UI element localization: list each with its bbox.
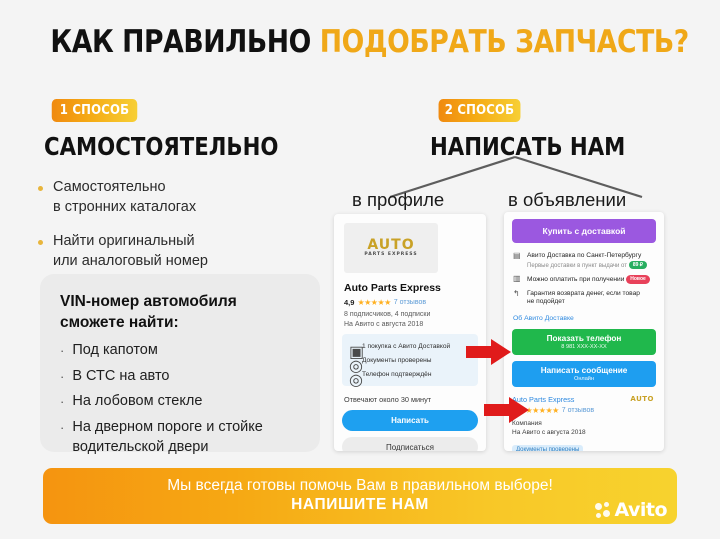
- benefit-text: Документы проверены: [362, 357, 432, 364]
- avito-dots-icon: [595, 502, 612, 519]
- list-item: ◎ Документы проверены: [347, 353, 473, 367]
- benefit-text: Телефон подтверждён: [362, 371, 431, 378]
- poster-canvas: КАК ПРАВИЛЬНО ПОДОБРАТЬ ЗАПЧАСТЬ? 1 СПОС…: [0, 0, 720, 539]
- logo-auto-text: AUTO: [367, 237, 414, 253]
- headline-black: КАК ПРАВИЛЬНО: [50, 24, 310, 60]
- show-phone-label: Показать телефон: [547, 334, 622, 343]
- check-circle-icon: ◎: [349, 370, 357, 378]
- cta-banner: Мы всегда готовы помочь Вам в правильном…: [43, 468, 677, 524]
- bullet-text: Самостоятельнов стронних каталогах: [53, 177, 196, 217]
- list-item: ↰ Гарантия возврата денег, если товарне …: [512, 288, 656, 310]
- reviews-link[interactable]: 7 отзывов: [394, 299, 426, 306]
- new-pill: Новое: [626, 275, 650, 284]
- benefits-panel: ▣ 1 покупка с Авито Доставкой ◎ Документ…: [342, 334, 478, 386]
- shop-logo: AUTO PARTS EXPRESS: [344, 223, 438, 273]
- bullet-dot-icon: [38, 186, 43, 191]
- about-delivery-link[interactable]: Об Авито Доставке: [513, 315, 656, 322]
- show-phone-button[interactable]: Показать телефон 8 981 XXX-XX-XX: [512, 329, 656, 355]
- avito-logo: Avito: [595, 499, 667, 521]
- documents-verified-badge: Документы проверены: [512, 445, 583, 451]
- cta-line-two: НАПИШИТЕ НАМ: [291, 495, 429, 516]
- vin-item-text: На лобовом стекле: [72, 392, 202, 412]
- list-item: · На лобовом стекле: [60, 392, 302, 412]
- return-icon: ↰: [513, 290, 522, 307]
- bullet-icon: ·: [60, 367, 64, 387]
- method-one-bullet-list: Самостоятельнов стронних каталогах Найти…: [38, 177, 318, 285]
- benefit-text: 1 покупка с Авито Доставкой: [362, 343, 450, 350]
- shop-name: Auto Parts Express: [344, 282, 478, 294]
- masked-phone-number: 8 981 XXX-XX-XX: [561, 344, 606, 350]
- write-message-button[interactable]: Написать сообщение Онлайн: [512, 361, 656, 387]
- bullet-icon: ·: [60, 392, 64, 412]
- seller-rating-row: 4,9 ★★★★★ 7 отзывов: [512, 406, 656, 415]
- star-icon: ★★★★★: [525, 406, 558, 415]
- vin-info-card: VIN-номер автомобилясможете найти: · Под…: [40, 274, 320, 452]
- list-item: Найти оригинальныйили аналоговый номер: [38, 231, 318, 271]
- bullet-icon: ·: [60, 418, 64, 457]
- headline-amber: ПОДОБРАТЬ ЗАПЧАСТЬ?: [320, 24, 689, 60]
- check-circle-icon: ◎: [349, 356, 357, 364]
- rating-value: 4,9: [344, 298, 354, 307]
- bullet-dot-icon: [38, 240, 43, 245]
- answer-time-note: Отвечают около 30 минут: [344, 395, 478, 404]
- delivery-text: Гарантия возврата денег, если товарне по…: [527, 290, 640, 307]
- red-arrow-icon: [466, 338, 512, 366]
- seller-type: Компания: [512, 419, 656, 428]
- subscribe-button[interactable]: Подписаться: [342, 437, 478, 451]
- seller-since: На Авито с августа 2018: [512, 428, 656, 437]
- method-one-badge: 1 СПОСОБ: [52, 99, 138, 122]
- avito-wordmark: Avito: [614, 499, 667, 521]
- seller-reviews-link[interactable]: 7 отзывов: [562, 407, 594, 414]
- seller-info-block: AUTO Auto Parts Express 4,9 ★★★★★ 7 отзы…: [512, 395, 656, 451]
- box-icon: ▣: [349, 342, 357, 350]
- followers-count: 8 подписчиков, 4 подписки: [344, 311, 478, 318]
- delivery-subtext: Первые доставки в пункт выдачи от: [527, 263, 627, 269]
- list-item: · На дверном пороге и стойкеводительской…: [60, 418, 302, 457]
- delivery-text: Авито Доставка по Санкт-Петербургу: [527, 252, 641, 259]
- star-icon: ★★★★★: [357, 298, 390, 307]
- write-button[interactable]: Написать: [342, 410, 478, 431]
- list-item: Самостоятельнов стронних каталогах: [38, 177, 318, 217]
- list-item: ▤ Авито Доставка по Санкт-Петербургу Пер…: [512, 250, 656, 273]
- vin-item-text: Под капотом: [72, 341, 158, 361]
- buy-with-delivery-button[interactable]: Купить с доставкой: [512, 219, 656, 243]
- cta-line-one: Мы всегда готовы помочь Вам в правильном…: [167, 476, 553, 495]
- list-item: ▥ Можно оплатить при получении Новое: [512, 273, 656, 288]
- vin-item-text: На дверном пороге и стойкеводительской д…: [72, 418, 262, 457]
- seller-mini-logo: AUTO: [630, 395, 654, 403]
- bullet-text: Найти оригинальныйили аналоговый номер: [53, 231, 208, 271]
- bullet-icon: ·: [60, 341, 64, 361]
- member-since: На Авито с августа 2018: [344, 321, 478, 328]
- sub-label-listing: в объявлении: [508, 189, 626, 211]
- vin-card-heading: VIN-номер автомобилясможете найти:: [60, 292, 302, 334]
- list-item: · В СТС на авто: [60, 367, 302, 387]
- red-arrow-icon: [480, 396, 530, 424]
- method-one-title: САМОСТОЯТЕЛЬНО: [44, 132, 278, 161]
- online-status-badge: Онлайн: [574, 376, 594, 382]
- price-pill: 89 ₽: [629, 261, 647, 270]
- list-item: · Под капотом: [60, 341, 302, 361]
- list-item: ▣ 1 покупка с Авито Доставкой: [347, 339, 473, 353]
- vin-item-text: В СТС на авто: [72, 367, 169, 387]
- write-message-label: Написать сообщение: [541, 366, 628, 375]
- profile-screenshot-card: AUTO PARTS EXPRESS Auto Parts Express 4,…: [334, 214, 486, 451]
- truck-icon: ▤: [513, 252, 522, 270]
- delivery-text: Можно оплатить при получении: [527, 276, 624, 283]
- wallet-icon: ▥: [513, 275, 522, 285]
- list-item: ◎ Телефон подтверждён: [347, 367, 473, 381]
- sub-label-profile: в профиле: [352, 189, 444, 211]
- rating-row: 4,9 ★★★★★ 7 отзывов: [344, 298, 478, 307]
- method-two-badge: 2 СПОСОБ: [439, 99, 521, 122]
- logo-sub-text: PARTS EXPRESS: [364, 253, 417, 258]
- page-title: КАК ПРАВИЛЬНО ПОДОБРАТЬ ЗАПЧАСТЬ?: [50, 24, 669, 60]
